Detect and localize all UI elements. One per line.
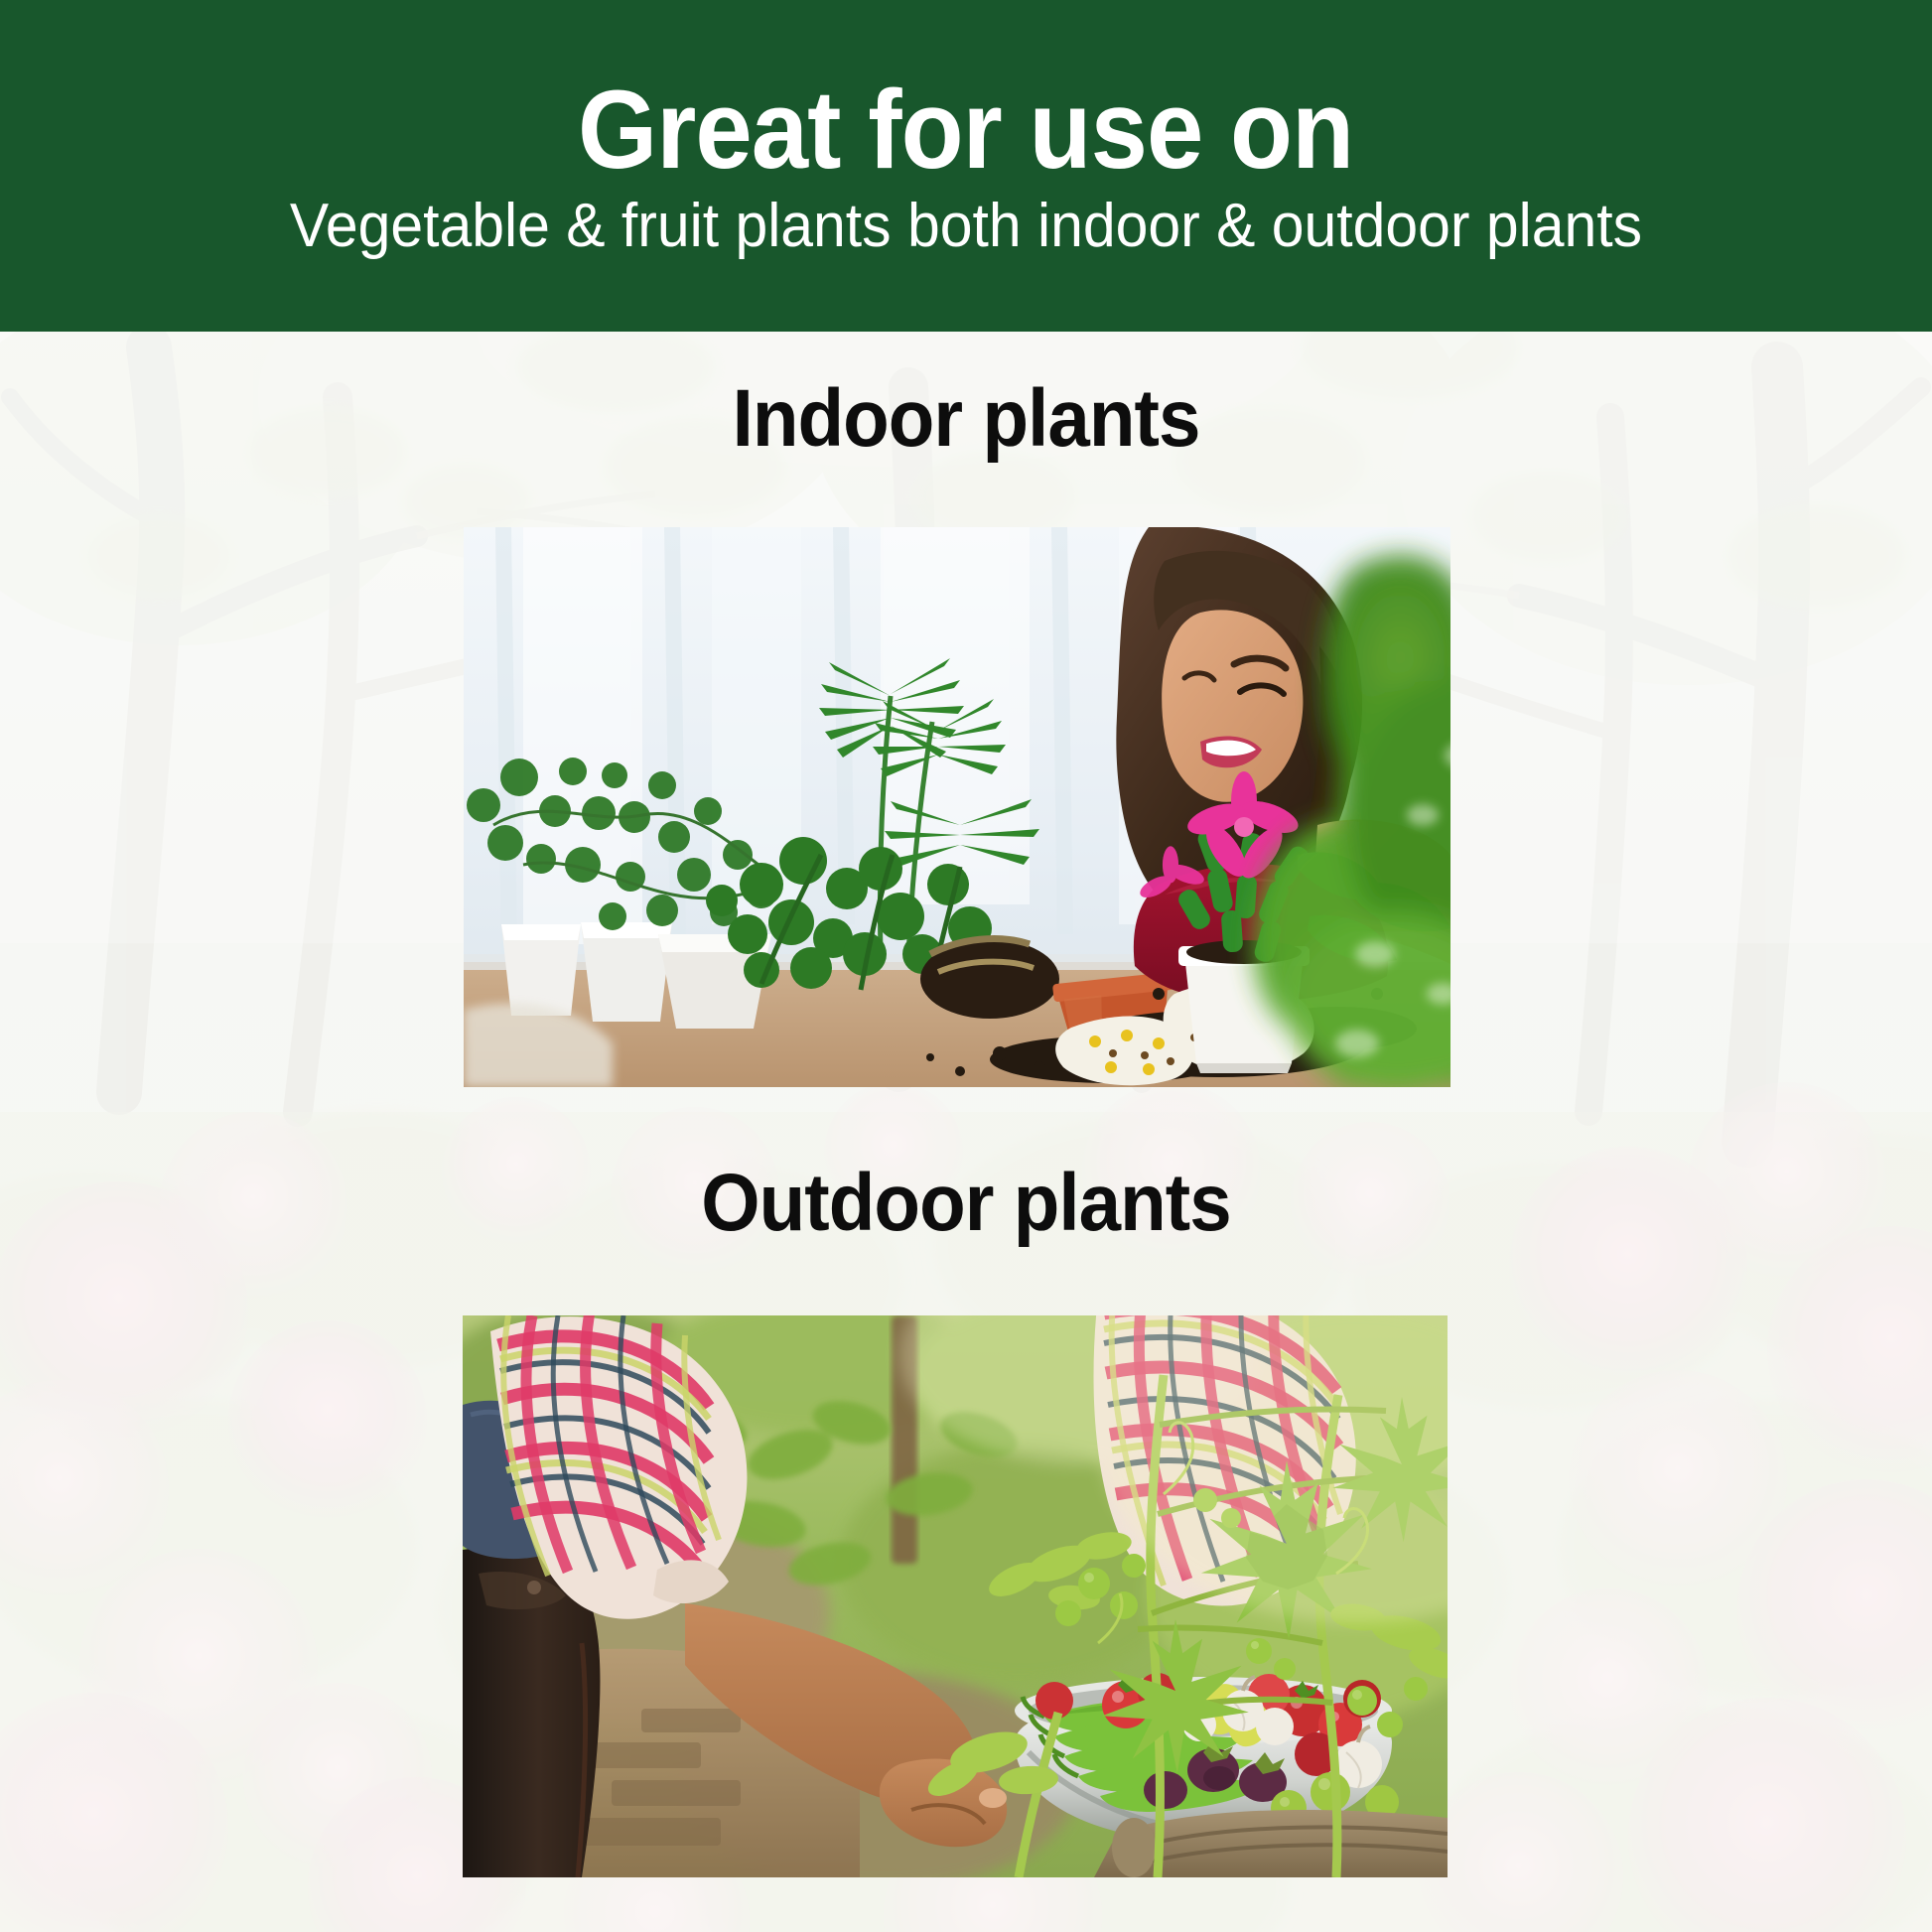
- section-heading-outdoor: Outdoor plants: [68, 1157, 1864, 1250]
- page-title: Great for use on: [578, 73, 1353, 187]
- section-heading-indoor: Indoor plants: [68, 372, 1864, 466]
- indoor-plants-photo-illustration: [464, 527, 1450, 1087]
- outdoor-plants-photo: [463, 1315, 1448, 1877]
- outdoor-plants-photo-illustration: [463, 1315, 1448, 1877]
- page-subtitle: Vegetable & fruit plants both indoor & o…: [290, 194, 1642, 258]
- indoor-plants-photo: [464, 527, 1450, 1087]
- header-banner: Great for use on Vegetable & fruit plant…: [0, 0, 1932, 332]
